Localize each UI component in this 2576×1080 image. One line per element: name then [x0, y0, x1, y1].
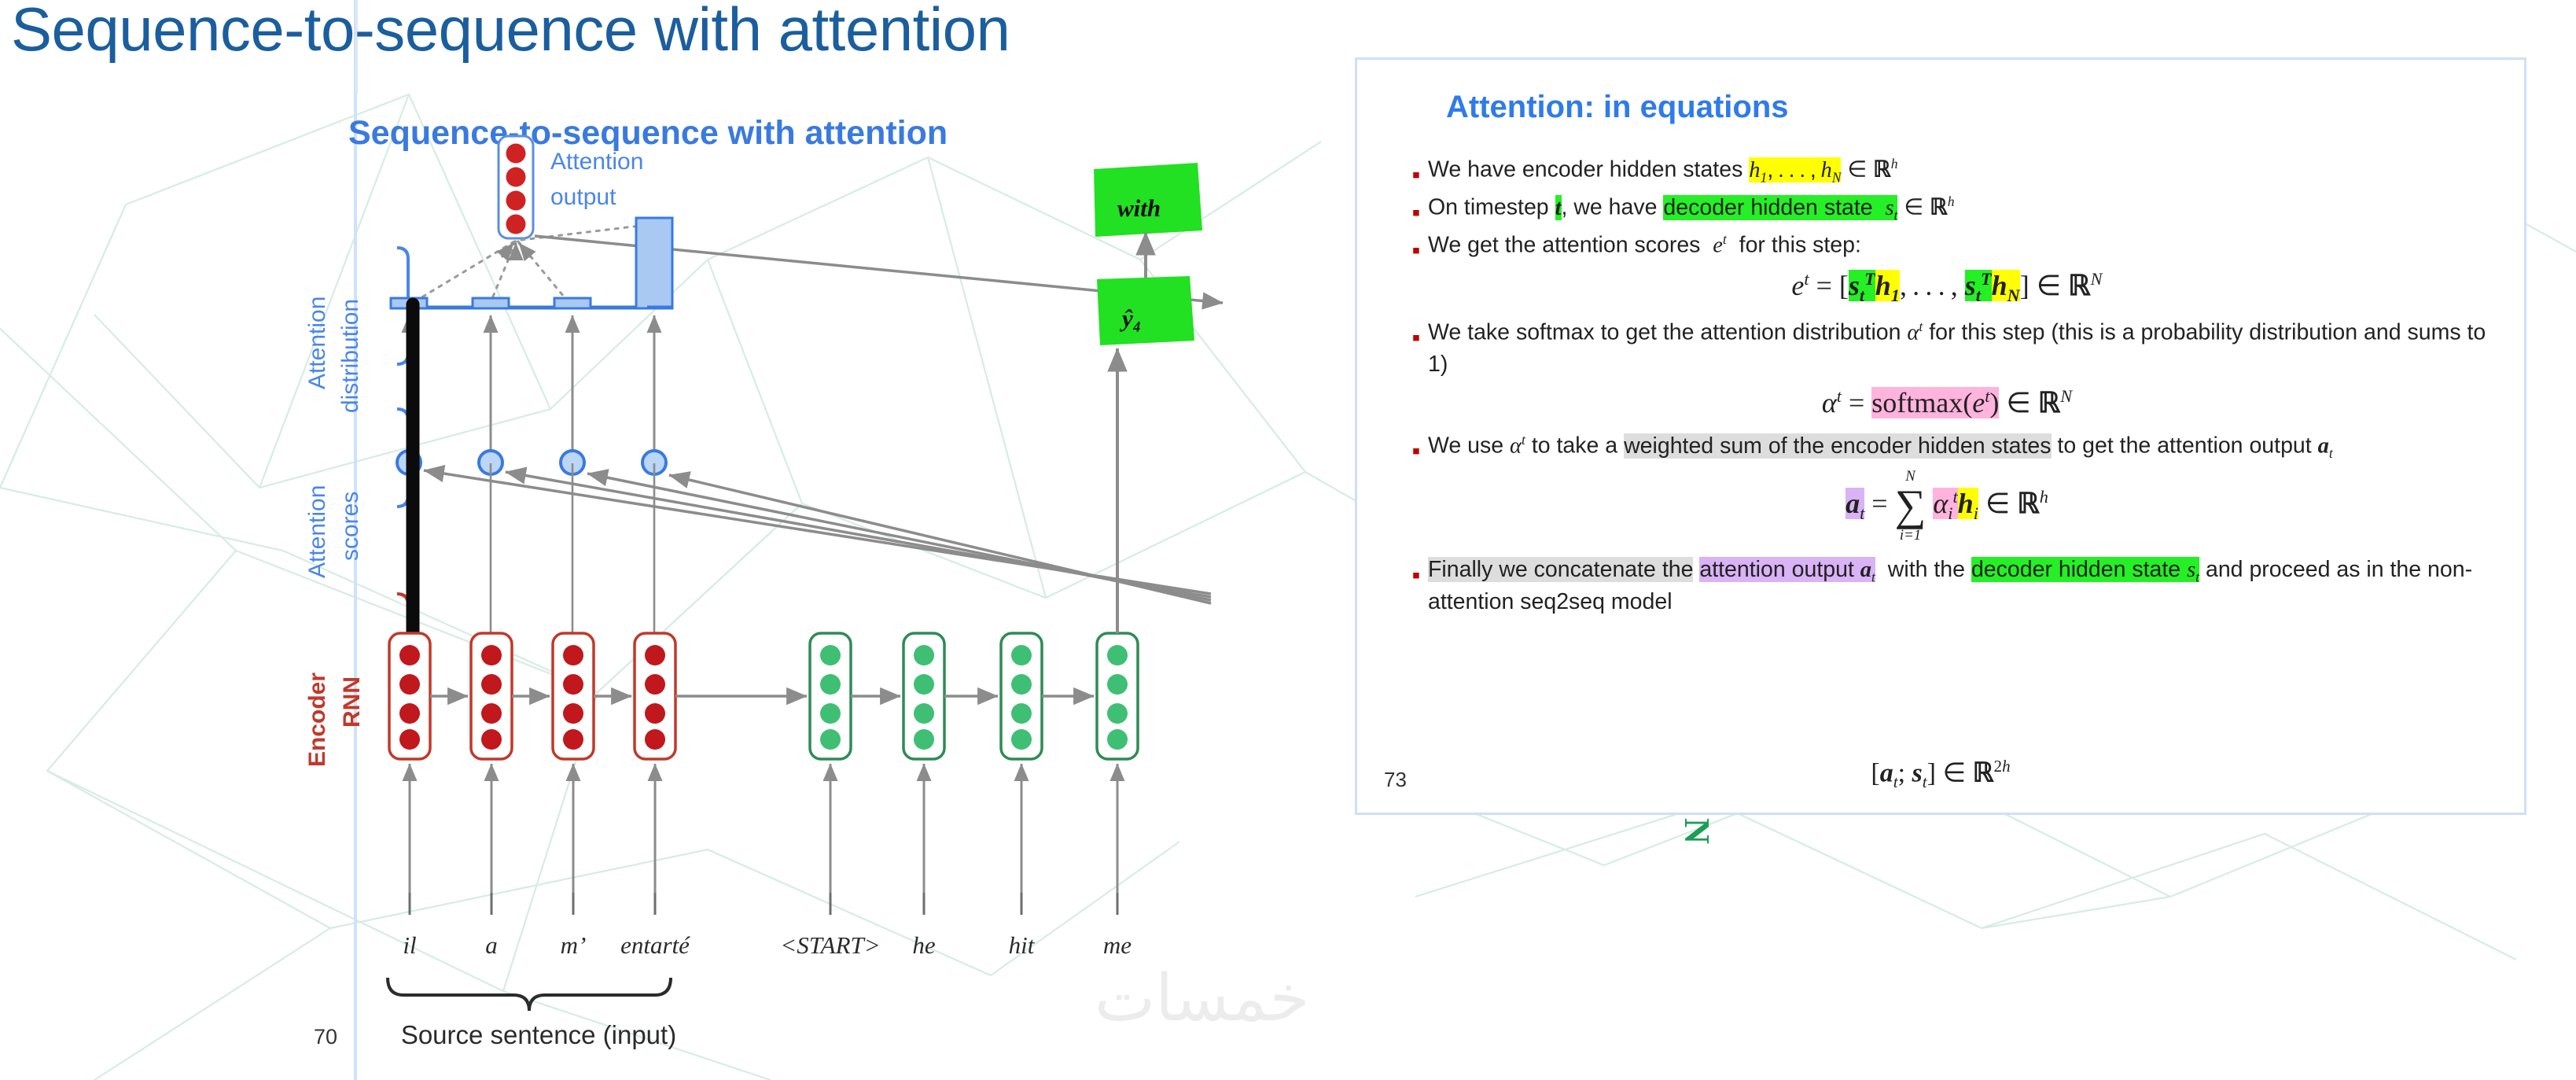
attention-output-box	[499, 136, 533, 238]
yhat-symbol: ŷ₄	[1119, 304, 1142, 332]
encoder-cell	[553, 633, 594, 759]
bullet-softmax-distribution: ▪ We take softmax to get the attention d…	[1404, 317, 2490, 380]
target-word-3: me	[1103, 931, 1132, 959]
predicted-output: ŷ₄ with	[1094, 163, 1202, 633]
input-arrows	[410, 764, 1117, 893]
bullet-encoder-hidden-states: ▪ We have encoder hidden states h1, . . …	[1404, 154, 2490, 187]
attention-distribution-label-line2: distribution	[337, 299, 363, 413]
yhat-highlight	[1097, 276, 1194, 345]
source-word-1: a	[485, 931, 498, 959]
decoder-to-score-arrows	[424, 470, 1211, 603]
equation-concat: [at; st] ∈ ℝ2h	[1357, 757, 2524, 792]
equation-softmax: αt = softmax(et) ∈ ℝN	[1404, 386, 2490, 419]
bullet-marker-icon: ▪	[1404, 230, 1428, 263]
attention-bar-2	[554, 298, 591, 308]
bullet-marker-icon: ▪	[1404, 317, 1428, 350]
bullet-concatenate: ▪ Finally we concatenate the attention o…	[1404, 555, 2490, 618]
equation-attention-output: at = N∑i=1 αithi ∈ ℝh	[1404, 470, 2490, 543]
bullet-marker-icon: ▪	[1404, 154, 1428, 187]
source-word-2: m’	[561, 931, 587, 959]
decoder-cell	[903, 633, 944, 759]
equation-attention-scores: et = [stTh1, . . . , stThN] ∈ ℝN	[1404, 269, 2490, 306]
predicted-word: with	[1117, 194, 1161, 222]
attention-output-label-line2: output	[550, 184, 616, 210]
decoder-cell	[1097, 633, 1138, 759]
source-sentence-caption: Source sentence (input)	[401, 1020, 676, 1049]
bullet-decoder-hidden-state: ▪ On timestep t, we have decoder hidden …	[1404, 192, 2490, 225]
bullet-text: On timestep t, we have decoder hidden st…	[1428, 192, 2490, 225]
attention-output-label-line1: Attention	[550, 149, 643, 175]
diagram-slide: Sequence-to-sequence with attention Atte…	[279, 75, 1443, 1080]
equations-panel-title: Attention: in equations	[1446, 90, 1789, 125]
bullet-attention-scores: ▪ We get the attention scores et for thi…	[1404, 230, 2490, 263]
encoder-cell	[471, 633, 512, 759]
label-attention-scores: Attention scores	[304, 409, 418, 578]
page-title: Sequence-to-sequence with attention	[11, 0, 1010, 65]
stray-green-glyph: N	[1676, 818, 1718, 844]
target-word-0: <START>	[780, 931, 880, 959]
attention-bar-3	[636, 218, 672, 308]
decoder-cell	[1001, 633, 1042, 759]
encoder-rnn-label-line1: Encoder	[304, 673, 330, 767]
diagram-page-number: 70	[314, 1025, 337, 1049]
seq2seq-attention-diagram: Attention distribution Attention scores …	[279, 75, 1443, 1080]
target-word-1: he	[912, 931, 936, 959]
source-word-3: entarté	[620, 931, 690, 959]
attention-score-nodes	[397, 451, 666, 474]
decoder-cell	[810, 633, 851, 759]
target-word-2: hit	[1009, 931, 1036, 959]
bullet-text: Finally we concatenate the attention out…	[1428, 555, 2490, 618]
equations-bullet-list: ▪ We have encoder hidden states h1, . . …	[1404, 154, 2490, 623]
bullet-text: We use αt to take a weighted sum of the …	[1428, 430, 2490, 463]
source-word-labels: il a m’ entarté	[403, 931, 690, 959]
bullet-text: We take softmax to get the attention dis…	[1428, 317, 2490, 380]
attention-distribution-label-line1: Attention	[304, 297, 330, 389]
attention-scores-label-line2: scores	[337, 492, 363, 561]
encoder-cell	[389, 633, 430, 759]
attention-scores-label-line1: Attention	[304, 485, 330, 578]
source-word-0: il	[403, 931, 416, 959]
encoder-cell	[635, 633, 675, 759]
bullet-weighted-sum: ▪ We use αt to take a weighted sum of th…	[1404, 430, 2490, 463]
bullet-marker-icon: ▪	[1404, 430, 1428, 463]
label-attention-distribution: Attention distribution	[304, 248, 418, 413]
bullet-text: We have encoder hidden states h1, . . . …	[1428, 154, 2490, 187]
source-sentence-brace	[388, 978, 671, 1011]
watermark: خمسات	[1095, 961, 1309, 1036]
bullet-marker-icon: ▪	[1404, 192, 1428, 225]
encoder-rnn-label-line2: RNN	[339, 676, 365, 728]
target-word-labels: <START> he hit me	[780, 931, 1132, 959]
attention-bar-1	[473, 298, 509, 308]
bullet-text: We get the attention scores et for this …	[1428, 230, 2490, 261]
equations-overlay-panel: Attention: in equations ▪ We have encode…	[1355, 57, 2526, 815]
word-ticks	[410, 893, 1117, 915]
bullet-marker-icon: ▪	[1404, 555, 1428, 588]
